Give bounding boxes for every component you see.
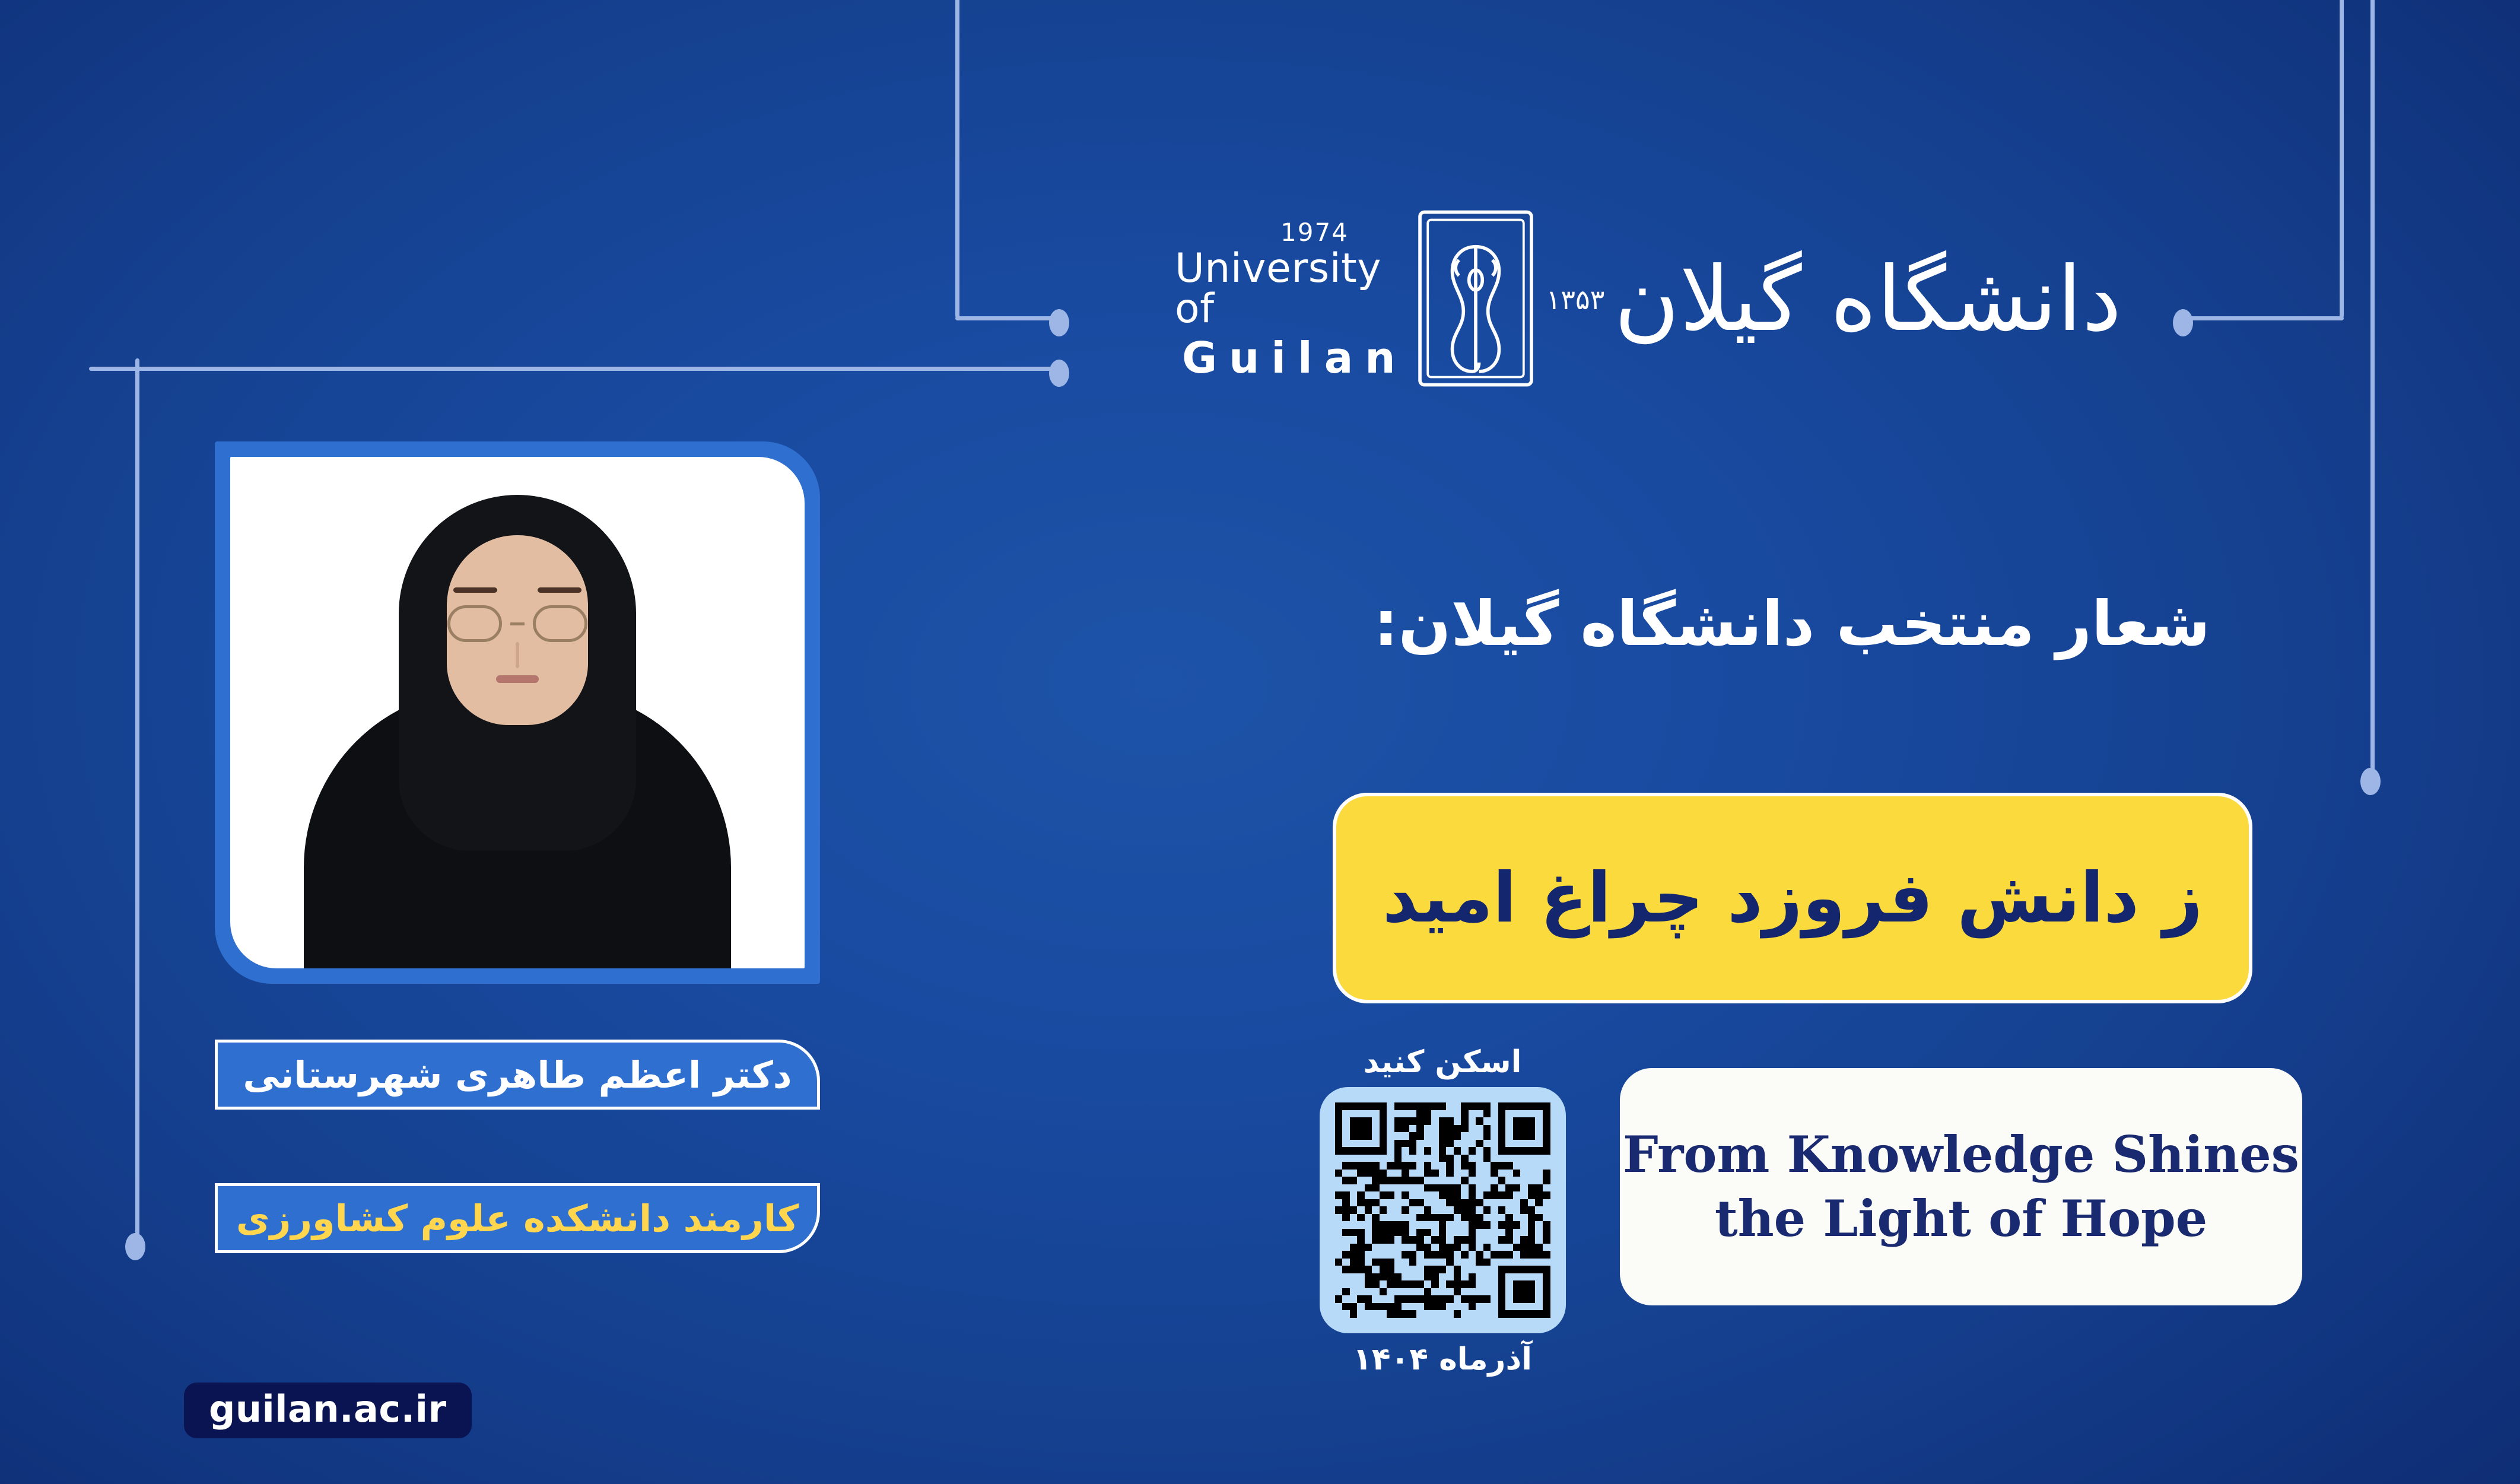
qr-section: اسکن کنید آذرماه ۱۴۰۴: [1315, 1044, 1570, 1377]
decor-dot-mid: [1049, 360, 1069, 387]
decor-dot-top-right: [2173, 309, 2193, 336]
logo-university-name-fa: دانشگاه گیلان: [1614, 255, 2121, 344]
decor-line-left-vertical: [135, 358, 139, 1243]
decor-dot-top-left: [1049, 309, 1069, 336]
logo-founding-year-en: 1974: [1280, 220, 1349, 245]
glasses-lens-left: [533, 605, 587, 642]
logo-english-text: 1974 University of Guilan: [1175, 220, 1407, 379]
decor-dot-bottom-left: [125, 1233, 145, 1260]
website-url-label: guilan.ac.ir: [209, 1387, 447, 1431]
guilan-crest-icon: [1413, 206, 1538, 393]
portrait-nose: [516, 642, 519, 668]
person-name-plate: دکتر اعظم طاهری شهرستانی: [215, 1040, 820, 1110]
decor-line-top-right-vertical: [2340, 0, 2344, 318]
poster-canvas: 1974 University of Guilan ۱۳۵۳ دانشگاه گ…: [0, 0, 2520, 1484]
qr-code[interactable]: [1320, 1087, 1566, 1333]
decor-line-top-left-horizontal: [955, 316, 1056, 320]
decor-line-top-left-vertical: [955, 0, 959, 318]
portrait-brow-right: [538, 587, 581, 593]
qr-caption-label: اسکن کنید: [1364, 1044, 1522, 1080]
portrait-frame: [215, 441, 820, 984]
decor-line-right-vertical: [2370, 0, 2375, 775]
logo-guilan-word: Guilan: [1182, 336, 1407, 379]
qr-date-label: آذرماه ۱۴۰۴: [1353, 1342, 1532, 1377]
qr-code-matrix: [1335, 1102, 1550, 1318]
page-title: شعار منتخب دانشگاه گیلان:: [1329, 587, 2255, 660]
website-badge[interactable]: guilan.ac.ir: [184, 1383, 472, 1438]
glasses-lens-right: [447, 605, 502, 642]
portrait-glasses: [447, 605, 587, 642]
person-role-label: کارمند دانشکده علوم کشاورزی: [236, 1197, 799, 1240]
portrait-brow-left: [453, 587, 497, 593]
person-role-plate: کارمند دانشکده علوم کشاورزی: [215, 1183, 820, 1253]
logo-university-word: University of: [1175, 249, 1407, 329]
glasses-bridge: [510, 622, 525, 625]
slogan-english-line1: From Knowledge Shines: [1623, 1123, 2299, 1187]
slogan-box-persian: ز دانش فروزد چراغ امید: [1333, 793, 2252, 1003]
slogan-persian-label: ز دانش فروزد چراغ امید: [1383, 858, 2203, 938]
university-logo: 1974 University of Guilan ۱۳۵۳ دانشگاه گ…: [1175, 196, 2065, 403]
slogan-english-line2: the Light of Hope: [1715, 1187, 2207, 1251]
logo-founding-year-fa: ۱۳۵۳: [1546, 284, 1605, 316]
decor-line-top-right-horizontal: [2182, 316, 2344, 320]
slogan-box-english: From Knowledge Shines the Light of Hope: [1620, 1068, 2302, 1305]
decor-dot-right: [2360, 768, 2381, 795]
person-name-label: دکتر اعظم طاهری شهرستانی: [243, 1053, 792, 1097]
headline-label: شعار منتخب دانشگاه گیلان:: [1374, 587, 2210, 660]
decor-line-mid-horizontal: [89, 367, 1062, 371]
portrait-mouth: [496, 675, 539, 683]
portrait-photo: [230, 457, 805, 968]
